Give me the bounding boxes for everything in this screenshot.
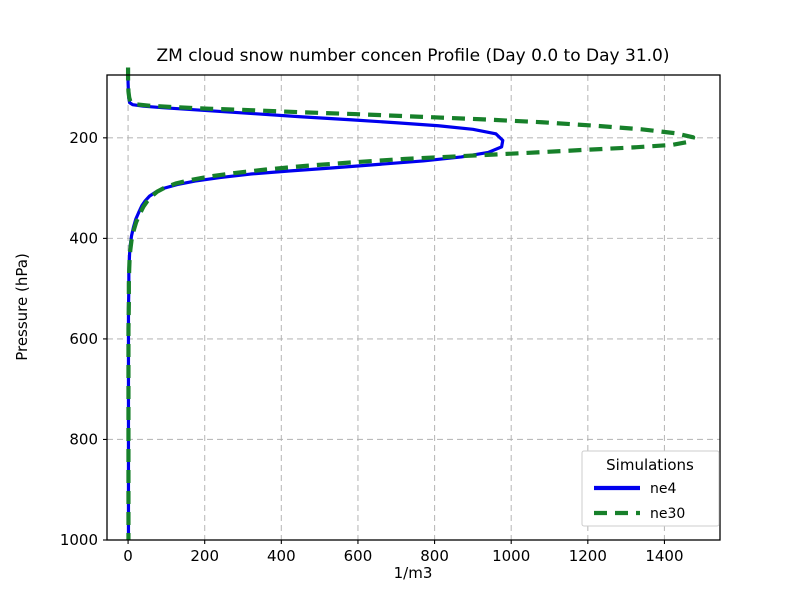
chart-title: ZM cloud snow number concen Profile (Day…	[157, 46, 670, 66]
x-tick-label-200: 200	[190, 547, 219, 565]
y-tick-label-400: 400	[69, 229, 98, 247]
x-tick-label-1200: 1200	[569, 547, 607, 565]
x-tick-label-400: 400	[267, 547, 296, 565]
legend-label-ne30: ne30	[650, 506, 685, 522]
x-tick-label-1400: 1400	[645, 547, 683, 565]
y-tick-label-600: 600	[69, 330, 98, 348]
y-tick-label-800: 800	[69, 430, 98, 448]
legend[interactable]: Simulations ne4ne30	[582, 451, 719, 526]
y-axis-label: Pressure (hPa)	[13, 253, 31, 361]
x-tick-label-600: 600	[344, 547, 373, 565]
x-tick-label-800: 800	[420, 547, 449, 565]
x-axis-label: 1/m3	[394, 564, 433, 582]
x-tick-label-1000: 1000	[492, 547, 530, 565]
y-tick-label-1000: 1000	[60, 531, 98, 549]
x-tick-label-0: 0	[123, 547, 133, 565]
chart-svg: ZM cloud snow number concen Profile (Day…	[0, 0, 800, 600]
legend-title: Simulations	[606, 456, 694, 474]
legend-label-ne4: ne4	[650, 481, 676, 497]
figure-canvas: ZM cloud snow number concen Profile (Day…	[0, 0, 800, 600]
y-tick-label-200: 200	[69, 129, 98, 147]
